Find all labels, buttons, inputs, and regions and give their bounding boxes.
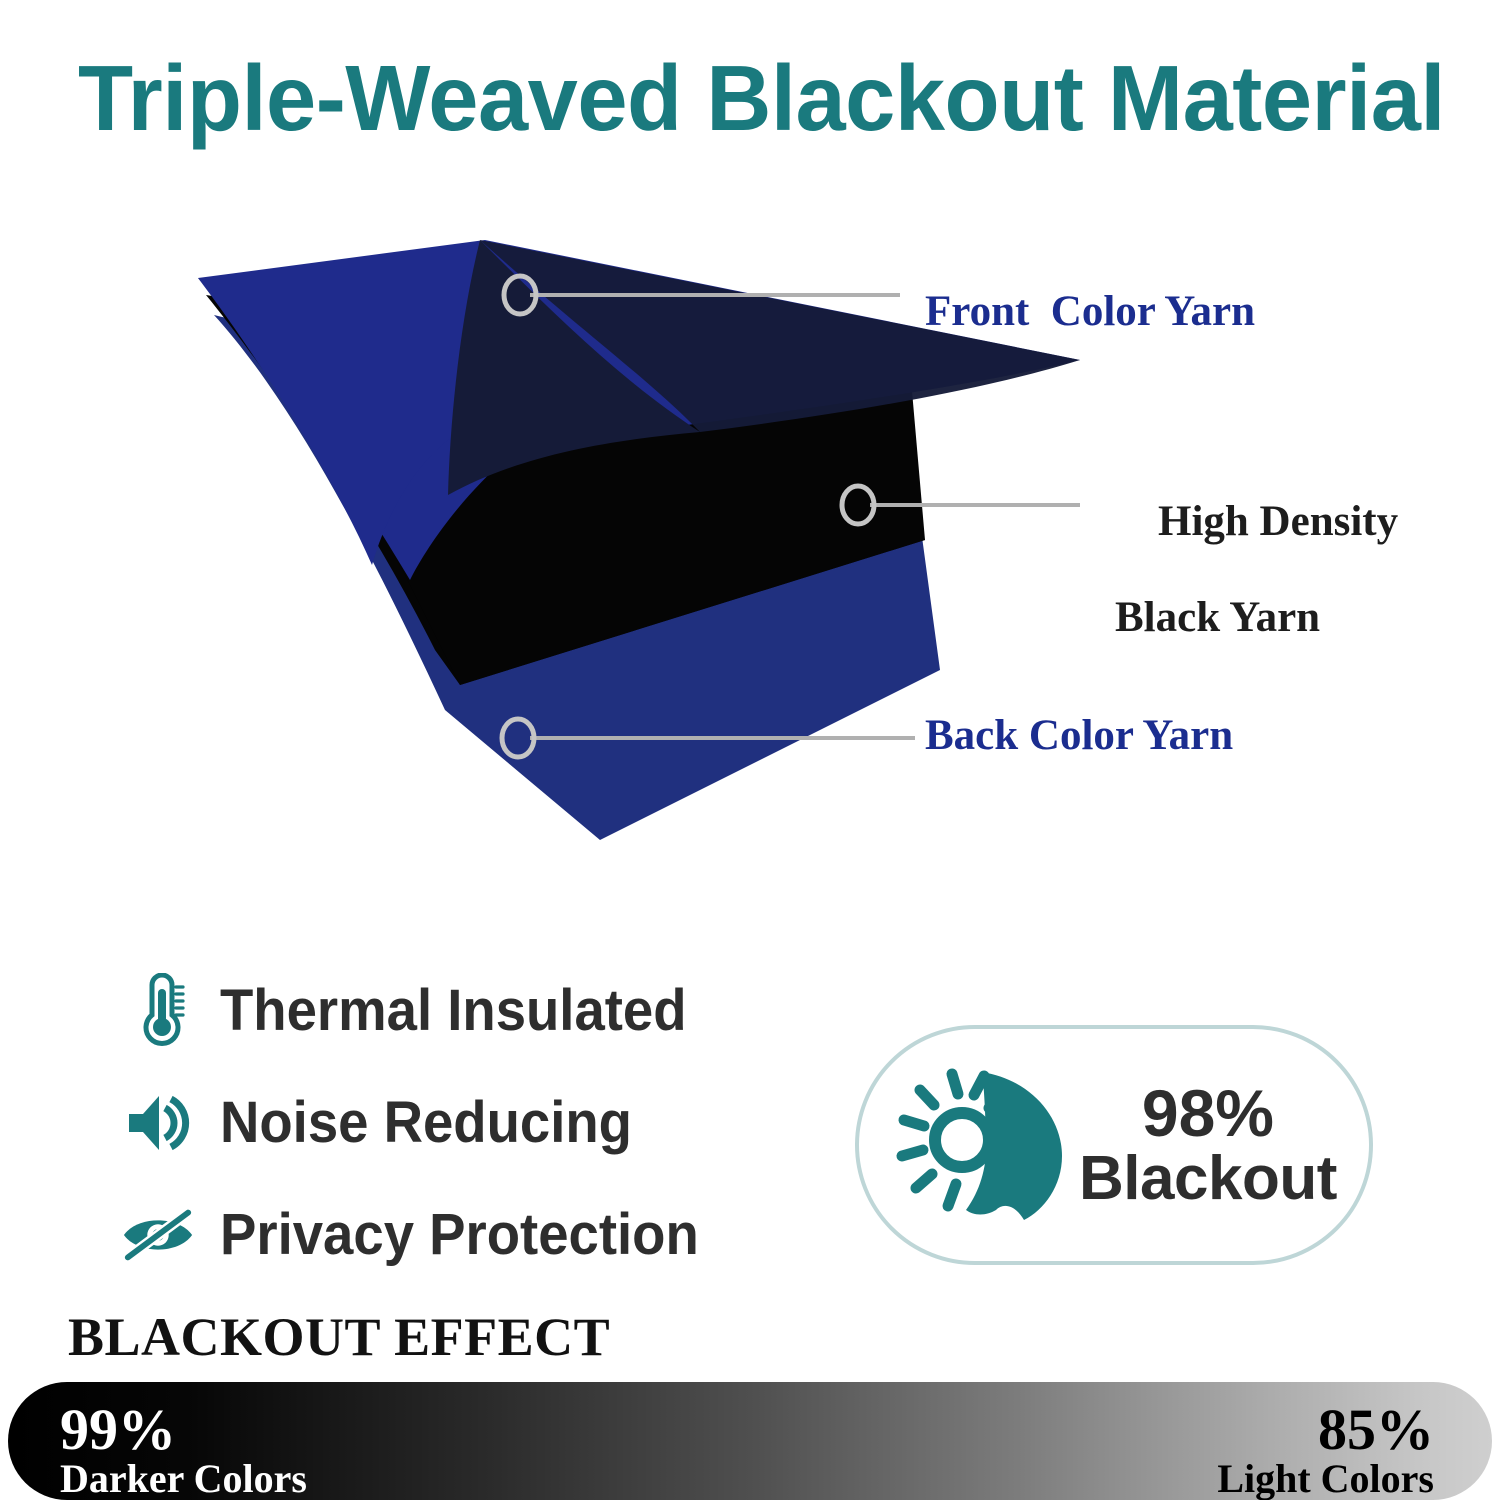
speaker-sound-icon [120,1082,196,1164]
feature-label-thermal-insulated: Thermal Insulated [220,980,687,1042]
effect-left-group: 99% Darker Colors [60,1400,307,1500]
blackout-percentage-badge: 98% Blackout [855,1025,1373,1265]
thermometer-icon [120,970,196,1052]
badge-word: Blackout [1079,1147,1337,1210]
feature-item-thermal-insulated: Thermal Insulated [120,955,820,1067]
effect-left-percent: 99% [60,1400,307,1459]
callout-back-color-yarn: Back Color Yarn [925,712,1233,760]
blackout-effect-title: BLACKOUT EFFECT [68,1307,610,1367]
feature-list: Thermal Insulated Noise Reducing [120,955,820,1291]
badge-percent: 98% [1079,1080,1337,1147]
feature-label-noise-reducing: Noise Reducing [220,1092,632,1154]
feature-label-privacy-protection: Privacy Protection [220,1204,699,1266]
feature-item-privacy-protection: Privacy Protection [120,1179,820,1291]
callout-high-density-black-yarn: High Density Black Yarn [1115,450,1398,739]
page-title: Triple-Weaved Blackout Material [78,48,1417,148]
callout-black-line2: Black Yarn [1115,594,1398,642]
effect-right-group: 85% Light Colors [1217,1400,1434,1500]
infographic-page: Triple-Weaved Blackout Material [0,0,1500,1500]
feature-item-noise-reducing: Noise Reducing [120,1067,820,1179]
sun-blocked-by-curtain-icon [881,1060,1071,1230]
callout-front-color-yarn: Front Color Yarn [925,288,1255,336]
effect-right-percent: 85% [1217,1400,1434,1459]
effect-left-sublabel: Darker Colors [60,1459,307,1500]
badge-text-group: 98% Blackout [1079,1080,1337,1211]
effect-right-sublabel: Light Colors [1217,1459,1434,1500]
eye-slash-icon [120,1194,196,1276]
blackout-effect-gradient-bar: 99% Darker Colors 85% Light Colors [8,1382,1492,1500]
callout-black-line1: High Density [1158,498,1398,545]
